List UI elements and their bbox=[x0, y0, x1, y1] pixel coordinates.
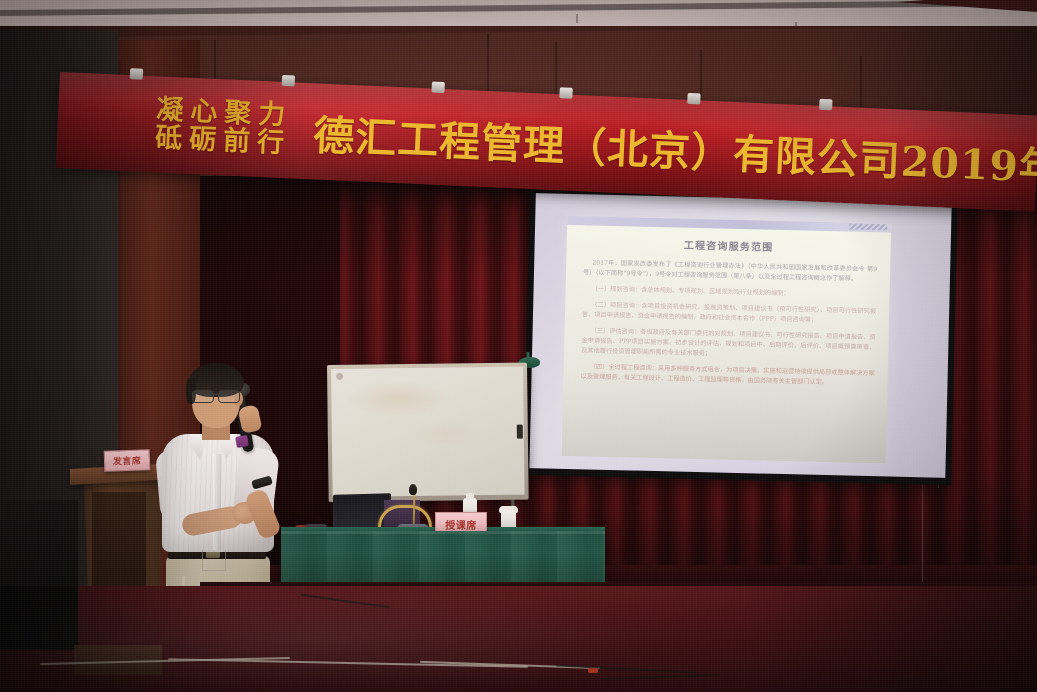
banner-clip bbox=[559, 87, 572, 99]
slide-title: 工程咨询服务范围 bbox=[567, 234, 891, 257]
gooseneck-microphone-head bbox=[409, 484, 417, 495]
microphone-colour-band bbox=[235, 435, 249, 448]
whiteboard[interactable] bbox=[327, 363, 529, 502]
eyeglass-bridge bbox=[212, 394, 218, 395]
whiteboard-surface bbox=[331, 367, 525, 497]
banner-clip bbox=[282, 75, 295, 87]
whiteboard-magnet bbox=[336, 373, 343, 380]
banner-clip bbox=[819, 99, 832, 111]
shirt-pocket bbox=[202, 550, 226, 571]
banner-clip bbox=[431, 82, 444, 94]
projection-screen[interactable]: 工程咨询服务范围 2017年，国家发改委发布了《工程咨询行业管理办法》（中华人民… bbox=[523, 187, 958, 485]
eyeglass-lens-left bbox=[192, 390, 214, 403]
banner-company-title: 德汇工程管理（北京）有限公司2019年 bbox=[312, 101, 1037, 194]
banner-clip bbox=[687, 93, 700, 105]
slide-paragraph: （二）项目咨询：含项目投资机会研究、投融资策划、项目建议书（预可行性研究）、项目… bbox=[582, 300, 876, 327]
slide-paragraph: 2017年，国家发改委发布了《工程咨询行业管理办法》（中华人民共和国国家发展和改… bbox=[583, 258, 877, 285]
slide-header-bar bbox=[567, 216, 891, 233]
conference-photo-scene: 工程咨询服务范围 2017年，国家发改委发布了《工程咨询行业管理办法》（中华人民… bbox=[0, 0, 1037, 692]
banner-clip bbox=[130, 68, 143, 80]
eyeglasses bbox=[190, 390, 242, 401]
slide-paragraph: （四）全过程工程咨询：采用多种服务方式组合，为项目决策、实施和运营持续提供局部或… bbox=[580, 363, 874, 390]
floor-shading bbox=[0, 586, 1037, 692]
table-edge-highlight bbox=[281, 531, 605, 534]
projected-slide: 工程咨询服务范围 2017年，国家发改委发布了《工程咨询行业管理办法》（中华人民… bbox=[562, 216, 892, 464]
slide-paragraph: （一）规划咨询：含总体规划、专项规划、区域规划及行业规划的编制； bbox=[582, 284, 876, 301]
whiteboard-marker-holder bbox=[517, 425, 523, 439]
projection-screen-surface: 工程咨询服务范围 2017年，国家发改委发布了《工程咨询行业管理办法》（中华人民… bbox=[529, 193, 951, 478]
slide-paragraph: （三）评估咨询：各级政府及有关部门委托的对规划、项目建议书、可行性研究报告、项目… bbox=[581, 326, 876, 363]
banner-slogan-line-2: 砥砺前行 bbox=[155, 124, 292, 158]
eyeglass-lens-right bbox=[218, 390, 240, 403]
shirt-placket bbox=[213, 454, 221, 550]
table-placard-label: 授课席 bbox=[445, 517, 477, 532]
ceiling-hook bbox=[576, 14, 578, 23]
podium-placard-label: 发言席 bbox=[113, 454, 142, 468]
slide-body: 2017年，国家发改委发布了《工程咨询行业管理办法》（中华人民共和国国家发展和改… bbox=[580, 258, 877, 395]
banner-slogan: 凝心聚力 砥砺前行 bbox=[155, 97, 293, 159]
